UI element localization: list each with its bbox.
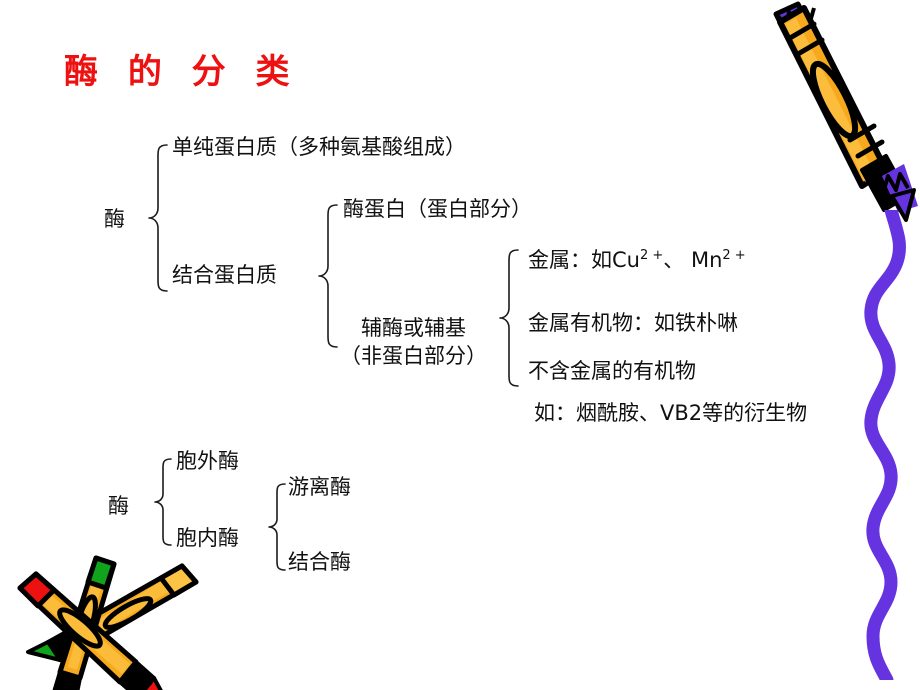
- metal-charge-cu: 2 +: [640, 248, 663, 263]
- diagram2-root-label: 酶: [108, 493, 129, 520]
- metal-mid-text: 、 Mn: [663, 248, 722, 272]
- crossed-crayons-icon: [0, 542, 205, 690]
- metal-charge-mn: 2 +: [722, 248, 745, 263]
- diagram1-examples-label: 如：烟酰胺、VB2等的衍生物: [534, 400, 807, 427]
- diagram2-extracellular-label: 胞外酶: [176, 448, 239, 475]
- diagram1-conjugated-protein-label: 结合蛋白质: [172, 262, 277, 289]
- page-title: 酶 的 分 类: [64, 44, 299, 93]
- diagram1-metal-organic-label: 金属有机物：如铁朴啉: [528, 310, 738, 337]
- metal-prefix-text: 金属：如Cu: [528, 248, 640, 272]
- diagram1-non-metal-organic-label: 不含金属的有机物: [528, 358, 696, 385]
- diagram1-simple-protein-label: 单纯蛋白质（多种氨基酸组成）: [172, 134, 466, 161]
- diagram2-bound-enzyme-label: 结合酶: [288, 549, 351, 576]
- crayon-top-right-icon: [758, 0, 920, 234]
- diagram1-coenzyme-line1: 辅酶或辅基: [340, 314, 487, 342]
- diagram2-brace-level2: [266, 481, 288, 573]
- diagram2-intracellular-label: 胞内酶: [176, 525, 239, 552]
- diagram1-coenzyme-label: 辅酶或辅基 （非蛋白部分）: [340, 314, 487, 371]
- diagram1-root-label: 酶: [104, 206, 125, 233]
- diagram1-brace-level3: [497, 247, 521, 389]
- diagram2-free-enzyme-label: 游离酶: [288, 474, 351, 501]
- diagram2-brace-level1: [152, 456, 174, 548]
- diagram1-coenzyme-line2: （非蛋白部分）: [340, 342, 487, 370]
- slide-canvas: 酶 的 分 类 酶 单纯蛋白质（多种氨基酸组成） 结合蛋白质 酶蛋白（蛋白部分）…: [0, 0, 920, 690]
- diagram1-brace-level1: [146, 142, 170, 294]
- diagram1-apoenzyme-label: 酶蛋白（蛋白部分）: [343, 196, 532, 223]
- diagram1-brace-level2: [316, 202, 340, 350]
- diagram1-metal-label: 金属：如Cu2 +、 Mn2 +: [528, 247, 746, 274]
- purple-squiggle-line: [845, 210, 920, 684]
